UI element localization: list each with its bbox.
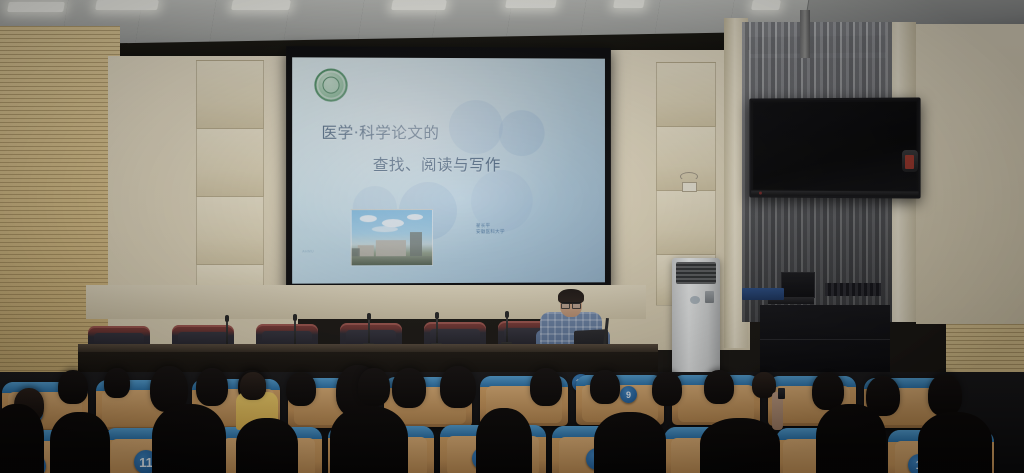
audience-member bbox=[58, 370, 88, 404]
ac-brand-logo bbox=[690, 296, 700, 304]
university-seal-logo bbox=[314, 68, 347, 101]
slide-presenter-affiliation: 安徽医科大学 bbox=[476, 230, 505, 236]
ceiling-light bbox=[505, 0, 557, 8]
av-control-cabinet bbox=[760, 305, 890, 373]
wall-tile bbox=[656, 190, 716, 256]
slide-campus-photo bbox=[351, 209, 433, 266]
audience-member bbox=[358, 368, 390, 406]
slide-presenter-block: 翟长平 安徽医科大学 bbox=[476, 224, 505, 236]
microphone-head-icon bbox=[367, 313, 371, 320]
av-rack-blue-unit bbox=[742, 288, 784, 300]
audience-member-foreground bbox=[918, 412, 992, 473]
wall-tile bbox=[656, 62, 716, 128]
wall-far-right bbox=[916, 24, 1024, 324]
tv-screen bbox=[753, 102, 916, 191]
audience-member-foreground bbox=[0, 404, 44, 473]
wall-tile bbox=[196, 196, 264, 266]
wall-outlet bbox=[682, 182, 697, 192]
ceiling-light bbox=[7, 2, 65, 12]
ceiling-light bbox=[751, 0, 781, 10]
smartphone-icon bbox=[778, 388, 785, 399]
dais-microphone bbox=[506, 316, 508, 343]
audience-member-foreground bbox=[700, 418, 780, 473]
audience-member-foreground bbox=[236, 418, 298, 473]
air-conditioner-unit[interactable] bbox=[672, 258, 720, 374]
audience-member-foreground bbox=[594, 412, 666, 473]
tv-bezel-base bbox=[751, 191, 918, 197]
dais-microphone bbox=[226, 320, 228, 346]
wall-tile bbox=[196, 128, 264, 198]
control-desk-monitor[interactable] bbox=[781, 272, 815, 298]
slide-surface: 医学·科学论文的 查找、阅读与写作 翟长平 安徽医科大学 AHMU bbox=[292, 57, 605, 283]
audience-member bbox=[440, 366, 476, 408]
ac-control-panel[interactable] bbox=[705, 291, 714, 303]
ac-vent-grille bbox=[676, 262, 716, 284]
audience-member bbox=[392, 368, 426, 408]
slide-corner-mark: AHMU bbox=[302, 249, 314, 253]
audience-member-foreground bbox=[50, 412, 110, 473]
ceiling-light bbox=[613, 0, 645, 8]
audience-member bbox=[530, 368, 562, 406]
audience-member bbox=[286, 372, 316, 406]
audience-member bbox=[652, 372, 682, 406]
wall-mounted-tv[interactable] bbox=[749, 97, 920, 198]
exit-sign bbox=[905, 155, 914, 169]
dais-microphone bbox=[368, 318, 370, 345]
slide-decor-circle bbox=[499, 110, 545, 156]
dais-microphone bbox=[294, 319, 296, 346]
audience-member bbox=[104, 368, 130, 398]
microphone-head-icon bbox=[225, 315, 229, 322]
slide-decor-circle bbox=[471, 170, 533, 232]
presenter-glasses-icon bbox=[561, 302, 581, 307]
wall-hook bbox=[680, 172, 698, 181]
microphone-head-icon bbox=[505, 311, 509, 318]
tv-power-led-icon bbox=[759, 192, 762, 195]
dais-microphone bbox=[436, 317, 438, 344]
slide-title-line-1: 医学·科学论文的 bbox=[321, 121, 439, 143]
projection-screen: 医学·科学论文的 查找、阅读与写作 翟长平 安徽医科大学 AHMU bbox=[286, 46, 611, 293]
seat-number-badge: 9 bbox=[620, 386, 637, 403]
audience-member-foreground bbox=[330, 406, 408, 473]
slide-decor-circle bbox=[449, 100, 503, 154]
slide-title-line-2: 查找、阅读与写作 bbox=[373, 153, 501, 175]
audience-member-foreground bbox=[152, 404, 226, 473]
audience-member bbox=[704, 370, 734, 404]
audience-member bbox=[928, 374, 962, 416]
ceiling-light bbox=[95, 0, 159, 10]
av-equipment-rack bbox=[825, 283, 881, 296]
ceiling-light bbox=[391, 0, 447, 10]
audience-member-foreground bbox=[476, 408, 532, 473]
audience-member bbox=[196, 368, 228, 406]
ceiling-light bbox=[231, 0, 291, 10]
wall-tile bbox=[196, 60, 264, 130]
audience-member bbox=[240, 372, 266, 400]
microphone-head-icon bbox=[435, 312, 439, 319]
audience-member bbox=[590, 370, 620, 404]
tv-mount-bracket bbox=[800, 10, 810, 58]
audience-member-foreground bbox=[816, 404, 886, 473]
lecture-hall-photo: 医学·科学论文的 查找、阅读与写作 翟长平 安徽医科大学 AHMU bbox=[0, 0, 1024, 473]
microphone-head-icon bbox=[293, 314, 297, 321]
